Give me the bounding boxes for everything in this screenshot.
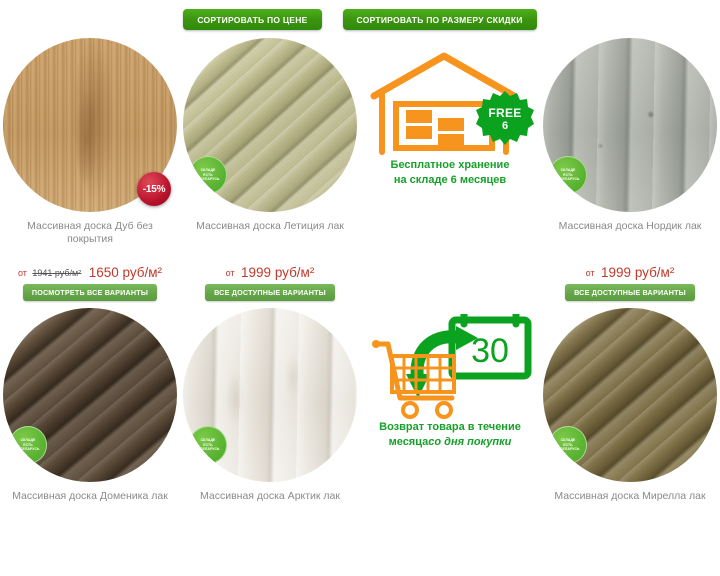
product-title: Массивная доска Летиция лак <box>187 220 353 233</box>
product-card-letitia[interactable]: СКЛАДЕ ЕСТЬ В БЕЛАРУСЬ Массивная доска Л… <box>180 36 360 306</box>
free-seal-badge: FREE 6 <box>476 90 534 148</box>
in-stock-badge: СКЛАДЕ ЕСТЬ В БЕЛАРУСЬ <box>549 156 587 194</box>
cart-calendar-icon: 30 <box>366 314 534 424</box>
in-stock-badge: СКЛАДЕ ЕСТЬ В БЕЛАРУСЬ <box>189 156 227 194</box>
product-image-letitia[interactable]: СКЛАДЕ ЕСТЬ В БЕЛАРУСЬ <box>183 38 357 212</box>
product-button-wrap: ВСЕ ДОСТУПНЫЕ ВАРИАНТЫ <box>180 284 360 301</box>
promo-caption-line2: месяцасо дня покупки <box>360 435 540 450</box>
seal-word: FREE <box>488 107 521 119</box>
promo-graphic: 30 Возврат товара в течение <box>360 312 540 512</box>
stock-badge-line3: В БЕЛАРУСЬ <box>16 447 39 452</box>
product-row-2: СКЛАДЕ ЕСТЬ В БЕЛАРУСЬ Массивная доска Д… <box>0 306 720 576</box>
product-price: от 1999 руб/м² <box>540 264 720 282</box>
stock-badge-line3: В БЕЛАРУСЬ <box>556 447 579 452</box>
product-card-mirella[interactable]: СКЛАДЕ ЕСТЬ В БЕЛАРУСЬ Массивная доска М… <box>540 306 720 576</box>
product-card-arctic[interactable]: СКЛАДЕ ЕСТЬ В БЕЛАРУСЬ Массивная доска А… <box>180 306 360 576</box>
in-stock-badge: СКЛАДЕ ЕСТЬ В БЕЛАРУСЬ <box>189 426 227 464</box>
in-stock-badge: СКЛАДЕ ЕСТЬ В БЕЛАРУСЬ <box>9 426 47 464</box>
promo-caption-line2: на складе 6 месяцев <box>360 173 540 188</box>
promo-return-policy: 30 Возврат товара в течение <box>360 306 540 576</box>
promo-caption-line1: Бесплатное хранение <box>360 158 540 173</box>
product-image-domenica[interactable]: СКЛАДЕ ЕСТЬ В БЕЛАРУСЬ <box>3 308 177 482</box>
product-title: Массивная доска Доменика лак <box>7 490 173 503</box>
product-thumb-wrap[interactable]: СКЛАДЕ ЕСТЬ В БЕЛАРУСЬ <box>543 308 717 482</box>
promo-caption-line2-b: со дня покупки <box>428 436 511 448</box>
price-current: 1999 руб/м² <box>601 265 674 280</box>
product-button-wrap: ВСЕ ДОСТУПНЫЕ ВАРИАНТЫ <box>540 284 720 301</box>
product-thumb-wrap[interactable]: СКЛАДЕ ЕСТЬ В БЕЛАРУСЬ <box>183 38 357 212</box>
promo-graphic: FREE 6 Бесплатное хранение на складе 6 м… <box>360 42 540 242</box>
product-thumb-wrap[interactable]: СКЛАДЕ ЕСТЬ В БЕЛАРУСЬ <box>3 308 177 482</box>
product-price: от 1941 руб/м² 1650 руб/м² <box>0 264 180 282</box>
product-title: Массивная доска Арктик лак <box>187 490 353 503</box>
sort-toolbar: СОРТИРОВАТЬ ПО ЦЕНЕ СОРТИРОВАТЬ ПО РАЗМЕ… <box>0 0 720 36</box>
product-image-mirella[interactable]: СКЛАДЕ ЕСТЬ В БЕЛАРУСЬ <box>543 308 717 482</box>
product-card-nordic[interactable]: СКЛАДЕ ЕСТЬ В БЕЛАРУСЬ Массивная доска Н… <box>540 36 720 306</box>
in-stock-badge: СКЛАДЕ ЕСТЬ В БЕЛАРУСЬ <box>549 426 587 464</box>
product-thumb-wrap[interactable]: СКЛАДЕ ЕСТЬ В БЕЛАРУСЬ <box>543 38 717 212</box>
product-title: Массивная доска Мирелла лак <box>547 490 713 503</box>
price-current: 1999 руб/м² <box>241 265 314 280</box>
all-available-variants-button[interactable]: ВСЕ ДОСТУПНЫЕ ВАРИАНТЫ <box>565 284 695 301</box>
price-current: 1650 руб/м² <box>89 265 162 280</box>
stock-badge-line3: В БЕЛАРУСЬ <box>196 447 219 452</box>
product-card-domenica[interactable]: СКЛАДЕ ЕСТЬ В БЕЛАРУСЬ Массивная доска Д… <box>0 306 180 576</box>
product-price: от 1999 руб/м² <box>180 264 360 282</box>
promo-caption-line2-a: месяца <box>389 436 429 448</box>
promo-storage-caption: Бесплатное хранение на складе 6 месяцев <box>360 158 540 188</box>
promo-caption-line1: Возврат товара в течение <box>360 420 540 435</box>
price-old: 1941 руб/м² <box>32 268 81 278</box>
product-row-1: -15% Массивная доска Дуб без покрытия от… <box>0 36 720 306</box>
price-prefix: от <box>586 268 595 278</box>
product-thumb-wrap[interactable]: -15% <box>3 38 177 212</box>
sort-by-price-button[interactable]: СОРТИРОВАТЬ ПО ЦЕНЕ <box>183 9 321 30</box>
product-button-wrap: ПОСМОТРЕТЬ ВСЕ ВАРИАНТЫ <box>0 284 180 301</box>
product-card-oak[interactable]: -15% Массивная доска Дуб без покрытия от… <box>0 36 180 306</box>
promo-return-caption: Возврат товара в течение месяцасо дня по… <box>360 420 540 450</box>
seal-number: 6 <box>502 121 508 132</box>
stock-badge-line3: В БЕЛАРУСЬ <box>556 177 579 182</box>
stock-badge-line3: В БЕЛАРУСЬ <box>196 177 219 182</box>
product-title: Массивная доска Нордик лак <box>547 220 713 233</box>
price-prefix: от <box>226 268 235 278</box>
promo-free-storage: FREE 6 Бесплатное хранение на складе 6 м… <box>360 36 540 306</box>
sort-by-discount-button[interactable]: СОРТИРОВАТЬ ПО РАЗМЕРУ СКИДКИ <box>343 9 537 30</box>
view-all-variants-button[interactable]: ПОСМОТРЕТЬ ВСЕ ВАРИАНТЫ <box>23 284 157 301</box>
product-title: Массивная доска Дуб без покрытия <box>7 220 173 246</box>
seal-text: FREE 6 <box>476 90 534 148</box>
product-image-nordic[interactable]: СКЛАДЕ ЕСТЬ В БЕЛАРУСЬ <box>543 38 717 212</box>
product-image-arctic[interactable]: СКЛАДЕ ЕСТЬ В БЕЛАРУСЬ <box>183 308 357 482</box>
price-prefix: от <box>18 268 27 278</box>
product-thumb-wrap[interactable]: СКЛАДЕ ЕСТЬ В БЕЛАРУСЬ <box>183 308 357 482</box>
product-grid: -15% Массивная доска Дуб без покрытия от… <box>0 36 720 576</box>
discount-badge: -15% <box>137 172 171 206</box>
all-available-variants-button[interactable]: ВСЕ ДОСТУПНЫЕ ВАРИАНТЫ <box>205 284 335 301</box>
